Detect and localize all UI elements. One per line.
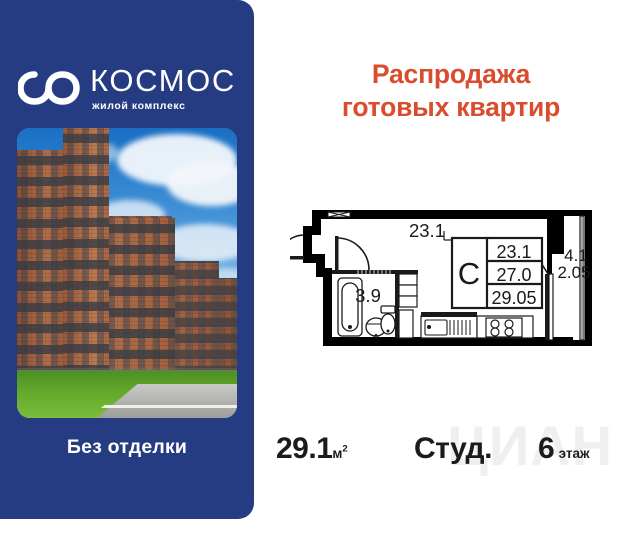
brand-name: КОСМОС bbox=[90, 65, 236, 96]
curb bbox=[17, 368, 237, 372]
utility-risers bbox=[399, 274, 417, 338]
info-type: С bbox=[458, 256, 480, 291]
info-living-area: 23.1 bbox=[496, 242, 531, 262]
brand-panel: КОСМОС жилой комплекс Без отделк bbox=[0, 0, 254, 519]
balcony-reduced-area-label: 2.05 bbox=[557, 263, 590, 282]
brand-tagline: жилой комплекс bbox=[92, 101, 185, 112]
stat-floor-value: 6 bbox=[538, 432, 554, 465]
road-marking bbox=[101, 405, 237, 408]
bathroom-door-leaf bbox=[335, 236, 339, 272]
stat-floor: 6 этаж bbox=[538, 432, 590, 466]
window-top bbox=[328, 212, 350, 217]
toilet bbox=[381, 306, 395, 334]
road bbox=[97, 384, 237, 418]
floor-plan: 23.1 3.9 4.1 2.05 С 23.1 27.0 29.05 bbox=[290, 198, 620, 366]
stat-area-value: 29.1 bbox=[276, 432, 332, 465]
stove bbox=[486, 318, 522, 337]
room-label-main: 23.1 bbox=[409, 220, 445, 241]
entrance-door-leaf bbox=[290, 256, 304, 260]
apartment-info-box: С 23.1 27.0 29.05 bbox=[452, 238, 542, 308]
headline-line-2: готовых квартир bbox=[262, 91, 640, 124]
bathroom-door bbox=[337, 238, 369, 270]
building-photo bbox=[17, 128, 237, 418]
balcony-partition bbox=[545, 274, 548, 340]
finish-caption: Без отделки bbox=[0, 436, 254, 459]
page-title: Распродажа готовых квартир bbox=[262, 58, 640, 123]
apartment-stats: 29.1м2 Студ. 6 этаж bbox=[262, 428, 640, 474]
listing-card: КОСМОС жилой комплекс Без отделк bbox=[0, 0, 640, 533]
stat-area-unit: м bbox=[332, 446, 342, 461]
stat-rooms-value: Студ. bbox=[414, 432, 492, 465]
kitchen-sink bbox=[425, 320, 447, 335]
stat-area-unit-exponent: 2 bbox=[342, 444, 347, 455]
stat-area: 29.1м2 bbox=[276, 432, 348, 466]
lawn bbox=[17, 370, 237, 418]
stat-floor-label: этаж bbox=[559, 446, 590, 461]
stat-rooms: Студ. bbox=[414, 432, 492, 466]
brand-logo: КОСМОС жилой комплекс bbox=[0, 58, 254, 118]
building bbox=[17, 150, 65, 398]
info-area-without-balcony: 27.0 bbox=[496, 265, 531, 285]
building bbox=[63, 128, 109, 398]
infinity-loops-icon bbox=[18, 68, 80, 108]
floor-plan-svg: 23.1 3.9 4.1 2.05 С 23.1 27.0 29.05 bbox=[290, 198, 620, 366]
room-label-bath: 3.9 bbox=[355, 285, 381, 306]
info-total-area: 29.05 bbox=[491, 288, 536, 308]
headline-line-1: Распродажа bbox=[262, 58, 640, 91]
kitchen-backsplash bbox=[421, 312, 477, 317]
